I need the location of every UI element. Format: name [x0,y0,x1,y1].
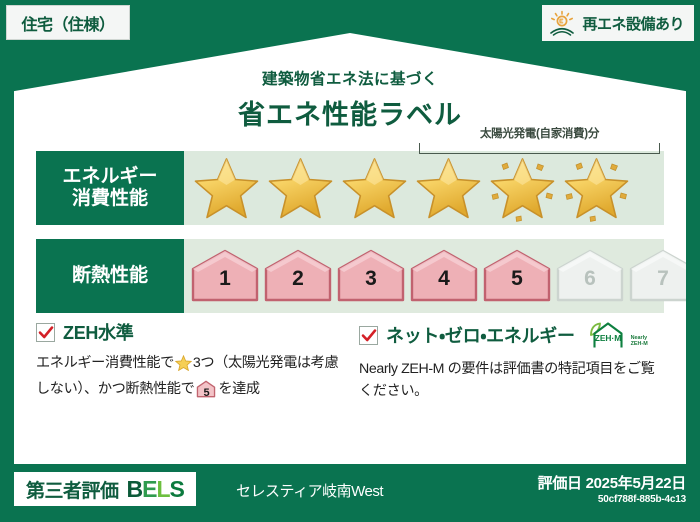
label-card: 建築物省エネ法に基づく 省エネ性能ラベル エネルギー 消費性能 [14,33,686,464]
insulation-level-active: 3 [336,248,406,304]
insulation-level-active: 1 [190,248,260,304]
insulation-level-number: 3 [336,267,406,291]
checkbox-checked-icon [36,323,55,342]
performance-rows: エネルギー 消費性能 [36,151,664,313]
net-zero-energy-title: ネット・ゼロ・エネルギー [386,322,575,348]
insulation-row-label-line1: 断熱性能 [72,265,148,287]
zeh-standard-column: ZEH水準 エネルギー消費性能で 3つ（太陽光発電は考慮しない）、かつ断熱性能で… [36,319,345,405]
energy-performance-row: エネルギー 消費性能 [36,151,664,225]
inline-house-level-number: 5 [196,385,216,402]
insulation-row-label: 断熱性能 [36,239,184,313]
zeh-standard-title: ZEH水準 [63,319,134,345]
energy-row-body: 太陽光発電(自家消費)分 [184,151,664,225]
renewable-badge-label: 再エネ設備あり [582,13,684,34]
net-zero-energy-header: ネット・ゼロ・エネルギー ZEH·M Nearly ZEH-M [359,319,668,351]
criteria-section: ZEH水準 エネルギー消費性能で 3つ（太陽光発電は考慮しない）、かつ断熱性能で… [36,319,668,405]
zeh-m-logo-sub-line2: ZEH-M [631,341,648,347]
evaluation-id: 50cf788f-885b-4c13 [538,494,686,505]
insulation-level-number: 4 [409,267,479,291]
zeh-standard-header: ZEH水準 [36,319,345,345]
zeh-standard-text-1: エネルギー消費性能で [36,355,174,371]
bels-letter-e: E [142,476,156,502]
net-zero-energy-body: Nearly ZEH-M の要件は評価書の特記項目をご覧ください。 [359,358,668,402]
insulation-level-active: 4 [409,248,479,304]
inline-house-level-icon: 5 [196,380,216,405]
energy-row-label-line1: エネルギー [62,166,157,188]
energy-performance-label: 住宅（住棟） 再エネ設備あり 建築物省エネ法に基づく [0,0,700,522]
insulation-level-number: 1 [190,267,260,291]
insulation-level-inactive: 7 [628,248,698,304]
insulation-level-inactive: 6 [555,248,625,304]
zeh-m-logo-text: ZEH·M [594,333,621,343]
zeh-m-logo-sub-line1: Nearly [631,335,647,341]
energy-row-label: エネルギー 消費性能 [36,151,184,225]
insulation-level-active: 2 [263,248,333,304]
zeh-standard-star-count: 3つ [193,355,214,371]
star-icon-solar [486,155,559,221]
bels-letter-s: S [170,476,184,502]
insulation-row-body: 1 2 3 4 5 [184,239,664,313]
star-icon [412,155,485,221]
star-icon-solar [560,155,633,221]
zeh-standard-text-3: を達成 [218,381,259,397]
title-main: 省エネ性能ラベル [14,93,686,132]
star-icon [190,155,263,221]
insulation-level-number: 7 [628,267,698,291]
star-icon [264,155,337,221]
bels-third-party-label: 第三者評価 [26,476,119,503]
category-tag: 住宅（住棟） [6,5,130,40]
insulation-level-number: 2 [263,267,333,291]
insulation-performance-row: 断熱性能 1 2 3 4 [36,239,664,313]
bels-letter-b: B [127,476,143,502]
evaluation-info: 評価日 2025年5月22日 50cf788f-885b-4c13 [538,472,686,505]
insulation-level-number: 5 [482,267,552,291]
footer: 第三者評価 BELS セレスティア岐南West 評価日 2025年5月22日 5… [0,464,700,522]
property-name: セレスティア岐南West [236,480,383,501]
sun-solar-icon [548,10,576,36]
evaluation-date: 評価日 2025年5月22日 [538,472,686,493]
renewable-equipment-badge: 再エネ設備あり [542,5,694,41]
zeh-m-logo-sub: Nearly ZEH-M [631,335,648,351]
insulation-level-active: 5 [482,248,552,304]
checkbox-checked-icon [359,326,378,345]
category-tag-label: 住宅（住棟） [21,11,114,35]
energy-row-label-line2: 消費性能 [72,188,148,210]
zeh-m-logo: ZEH·M Nearly ZEH-M [587,319,648,351]
bels-letter-l: L [156,476,169,502]
zeh-standard-body: エネルギー消費性能で 3つ（太陽光発電は考慮しない）、かつ断熱性能で 5 を達成 [36,352,345,405]
title-block: 建築物省エネ法に基づく 省エネ性能ラベル [14,67,686,132]
insulation-level-scale: 1 2 3 4 5 [184,239,664,313]
star-icon [338,155,411,221]
bels-plate: 第三者評価 BELS [14,472,196,506]
insulation-level-number: 6 [555,267,625,291]
net-zero-energy-column: ネット・ゼロ・エネルギー ZEH·M Nearly ZEH-M Nearl [359,319,668,405]
title-subtitle: 建築物省エネ法に基づく [14,67,686,89]
bels-logo: BELS [127,476,184,503]
inline-star-icon [175,355,192,378]
star-rating [184,151,664,225]
